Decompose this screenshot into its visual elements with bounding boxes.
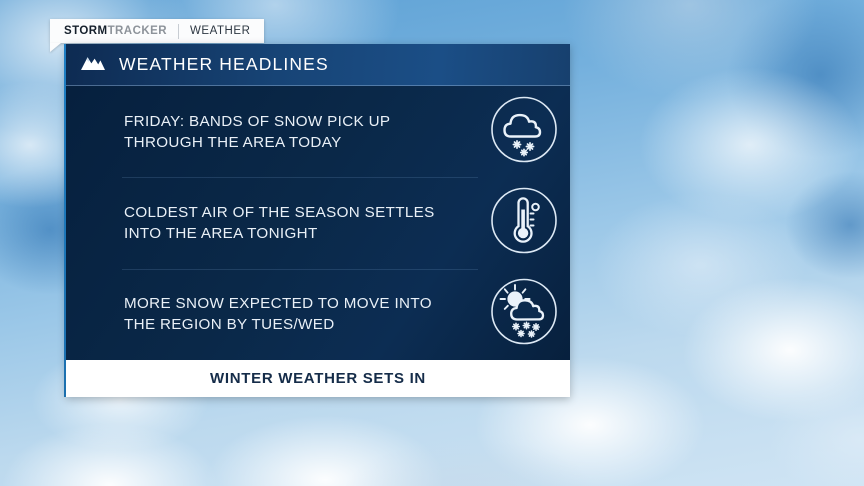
headline-text: MORE SNOW EXPECTED TO MOVE INTO THE REGI… <box>124 293 456 335</box>
panel-footer: WINTER WEATHER SETS IN <box>66 360 570 397</box>
brand-label: STORMTRACKER <box>64 25 167 37</box>
brand-tab[interactable]: STORMTRACKER WEATHER <box>50 19 264 43</box>
brand-strong-text: STORM <box>64 25 108 37</box>
brand-light-text: TRACKER <box>108 25 167 37</box>
panel-body: FRIDAY: BANDS OF SNOW PICK UP THROUGH TH… <box>66 86 570 360</box>
tab-divider <box>178 24 179 39</box>
footer-headline: WINTER WEATHER SETS IN <box>210 370 426 387</box>
headline-item[interactable]: MORE SNOW EXPECTED TO MOVE INTO THE REGI… <box>66 269 570 360</box>
weather-headlines-panel: WEATHER HEADLINES FRIDAY: BANDS OF SNOW … <box>66 44 570 397</box>
headline-item[interactable]: COLDEST AIR OF THE SEASON SETTLES INTO T… <box>66 177 570 268</box>
headline-text: COLDEST AIR OF THE SEASON SETTLES INTO T… <box>124 202 456 244</box>
tab-pointer <box>50 43 61 52</box>
headline-item[interactable]: FRIDAY: BANDS OF SNOW PICK UP THROUGH TH… <box>66 86 570 177</box>
panel-header: WEATHER HEADLINES <box>66 44 570 86</box>
headline-text: FRIDAY: BANDS OF SNOW PICK UP THROUGH TH… <box>124 111 456 153</box>
cloud-snow-icon <box>488 93 560 170</box>
sun-cloud-snow-icon <box>488 276 560 353</box>
mountain-icon <box>80 54 106 76</box>
weather-graphic-stage: STORMTRACKER WEATHER WEATHER HEADLINES F… <box>0 0 864 486</box>
panel-title: WEATHER HEADLINES <box>119 54 329 75</box>
thermometer-cold-icon <box>488 184 560 261</box>
section-label: WEATHER <box>190 25 251 37</box>
